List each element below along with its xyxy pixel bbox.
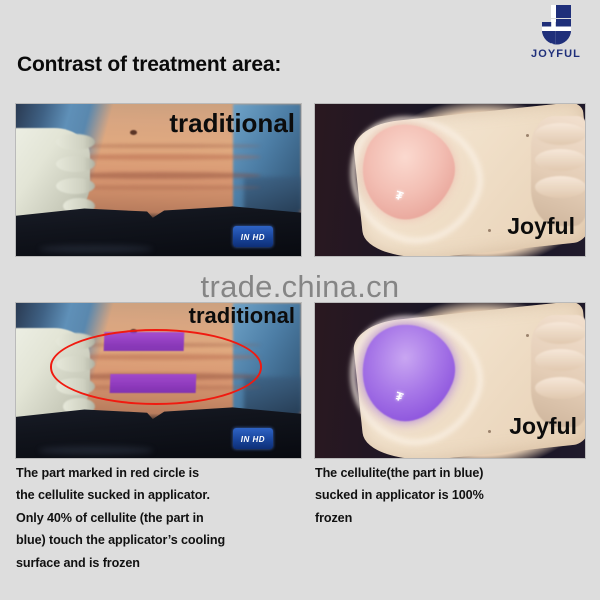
caption-left-line: surface and is frozen bbox=[16, 552, 308, 574]
in-hd-badge-text: IN HD bbox=[241, 233, 265, 242]
caption-right: The cellulite(the part in blue) sucked i… bbox=[315, 462, 590, 529]
caption-left-line: the cellulite sucked in applicator. bbox=[16, 484, 308, 506]
in-hd-badge-top: IN HD bbox=[233, 226, 273, 247]
caption-left-line: Only 40% of cellulite (the part in bbox=[16, 507, 308, 529]
slide-page: JOYFUL Contrast of treatment area: tradi… bbox=[0, 0, 600, 600]
panel-top-left-traditional: traditional IN HD bbox=[16, 104, 301, 256]
caption-right-line: frozen bbox=[315, 507, 590, 529]
in-hd-badge-bottom: IN HD bbox=[233, 428, 273, 449]
caption-right-line: sucked in applicator is 100% bbox=[315, 484, 590, 506]
cellulite-highlight-bar-upper bbox=[104, 332, 184, 351]
label-joyful-top: Joyful bbox=[507, 215, 575, 238]
panel-bottom-right-joyful-annotated: ₮ Joyful bbox=[315, 303, 585, 458]
in-hd-badge-text-bottom: IN HD bbox=[241, 435, 265, 444]
panel-top-right-joyful: ₮ Joyful bbox=[315, 104, 585, 256]
panel-bottom-left-traditional-annotated: traditional IN HD bbox=[16, 303, 301, 458]
site-watermark: trade.china.cn bbox=[201, 269, 400, 305]
caption-left: The part marked in red circle is the cel… bbox=[16, 462, 308, 574]
label-traditional-bottom: traditional bbox=[189, 305, 295, 327]
joyful-shield-logo-icon bbox=[538, 4, 574, 48]
cellulite-highlight-bar-lower bbox=[110, 374, 196, 393]
page-title: Contrast of treatment area: bbox=[17, 53, 281, 77]
label-joyful-bottom: Joyful bbox=[509, 415, 577, 438]
caption-left-line: The part marked in red circle is bbox=[16, 462, 308, 484]
brand-logo: JOYFUL bbox=[524, 4, 588, 60]
caption-right-line: The cellulite(the part in blue) bbox=[315, 462, 590, 484]
label-traditional-top: traditional bbox=[169, 110, 295, 136]
caption-left-line: blue) touch the applicator’s cooling bbox=[16, 529, 308, 551]
logo-wordmark: JOYFUL bbox=[524, 49, 588, 60]
